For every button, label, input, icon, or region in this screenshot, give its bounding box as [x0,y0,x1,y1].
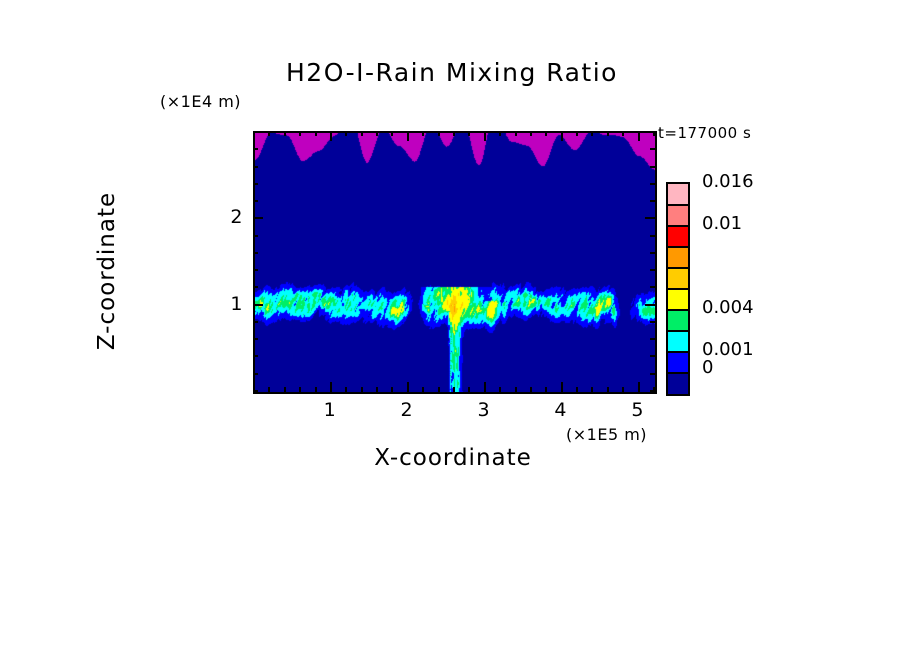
x-axis-units-label: (×1E5 m) [566,425,647,444]
colorbar-band-divider [668,309,688,311]
tick-mark [484,382,486,392]
tick-mark [530,387,532,392]
tick-mark [576,131,578,136]
plot-area [253,131,657,394]
tick-mark [484,131,486,141]
tick-mark [645,217,655,219]
tick-mark [650,321,655,323]
colorbar-band-divider [668,267,688,269]
colorbar-tick-label: 0 [702,357,713,378]
colorbar-band-divider [668,246,688,248]
tick-mark [530,131,532,136]
tick-mark [499,387,501,392]
time-annotation: t=177000 s [658,124,751,142]
tick-mark [561,131,563,141]
tick-mark [253,355,258,357]
colorbar-tick-label: 0.01 [702,213,742,234]
tick-mark [622,387,624,392]
x-axis-label: X-coordinate [253,445,653,471]
tick-mark [253,235,258,237]
tick-mark [650,286,655,288]
tick-mark [650,235,655,237]
tick-mark [650,338,655,340]
tick-mark [650,355,655,357]
tick-mark [515,387,517,392]
tick-mark [468,387,470,392]
colorbar-band [668,373,688,394]
tick-mark [253,390,258,392]
x-tick-label: 5 [623,399,653,421]
tick-mark [638,131,640,141]
tick-mark [650,373,655,375]
tick-mark [253,373,258,375]
tick-mark [645,304,655,306]
tick-mark [545,131,547,136]
chart-title: H2O-I-Rain Mixing Ratio [0,58,904,87]
figure-container: H2O-I-Rain Mixing Ratio (×1E4 m) t=17700… [0,0,904,654]
tick-mark [253,304,263,306]
tick-mark [253,166,258,168]
colorbar-band-divider [668,372,688,374]
tick-mark [315,387,317,392]
colorbar-band [668,352,688,373]
colorbar [666,182,690,396]
colorbar-tick-label: 0.004 [702,297,754,318]
tick-mark [515,131,517,136]
tick-mark [376,387,378,392]
tick-mark [299,387,301,392]
tick-mark [268,387,270,392]
tick-mark [407,131,409,141]
tick-mark [330,131,332,141]
colorbar-band [668,268,688,289]
y-axis-label: Z-coordinate [94,141,120,401]
tick-mark [299,131,301,136]
tick-mark [376,131,378,136]
tick-mark [638,382,640,392]
colorbar-band [668,205,688,226]
tick-mark [650,390,655,392]
x-tick-label: 1 [315,399,345,421]
tick-mark [284,131,286,136]
colorbar-band-divider [668,204,688,206]
tick-mark [545,387,547,392]
tick-mark [645,131,655,133]
tick-mark [315,131,317,136]
colorbar-tick-label: 0.016 [702,171,754,192]
tick-mark [607,131,609,136]
tick-mark [253,200,258,202]
tick-mark [576,387,578,392]
tick-mark [453,131,455,136]
rain-mixing-ratio-field [255,133,655,392]
x-tick-label: 2 [392,399,422,421]
tick-mark [407,382,409,392]
tick-mark [330,382,332,392]
tick-mark [361,131,363,136]
chart-title-text: H2O-I-Rain Mixing Ratio [286,58,618,87]
tick-mark [284,387,286,392]
colorbar-band-divider [668,225,688,227]
colorbar-band [668,184,688,205]
colorbar-band [668,289,688,310]
tick-mark [438,131,440,136]
tick-mark [650,252,655,254]
colorbar-band-divider [668,330,688,332]
tick-mark [391,131,393,136]
tick-mark [591,387,593,392]
tick-mark [499,131,501,136]
x-tick-label: 3 [469,399,499,421]
tick-mark [650,148,655,150]
tick-mark [253,286,258,288]
tick-mark [650,200,655,202]
tick-mark [253,183,258,185]
y-tick-label: 1 [217,293,243,315]
tick-mark [468,131,470,136]
tick-mark [253,252,258,254]
tick-mark [607,387,609,392]
tick-mark [650,183,655,185]
tick-mark [391,387,393,392]
tick-mark [422,387,424,392]
colorbar-band [668,247,688,268]
colorbar-band [668,226,688,247]
tick-mark [622,131,624,136]
tick-mark [253,131,263,133]
colorbar-band [668,310,688,331]
tick-mark [253,269,258,271]
y-axis-units-label: (×1E4 m) [160,92,241,111]
x-tick-label: 4 [546,399,576,421]
tick-mark [253,217,263,219]
tick-mark [453,387,455,392]
tick-mark [561,382,563,392]
y-tick-label: 2 [217,206,243,228]
tick-mark [650,166,655,168]
colorbar-band-divider [668,288,688,290]
tick-mark [438,387,440,392]
tick-mark [253,148,258,150]
tick-mark [361,387,363,392]
tick-mark [253,321,258,323]
tick-mark [345,387,347,392]
colorbar-band [668,331,688,352]
tick-mark [422,131,424,136]
colorbar-band-divider [668,351,688,353]
tick-mark [650,269,655,271]
tick-mark [591,131,593,136]
tick-mark [253,338,258,340]
tick-mark [345,131,347,136]
tick-mark [268,131,270,136]
